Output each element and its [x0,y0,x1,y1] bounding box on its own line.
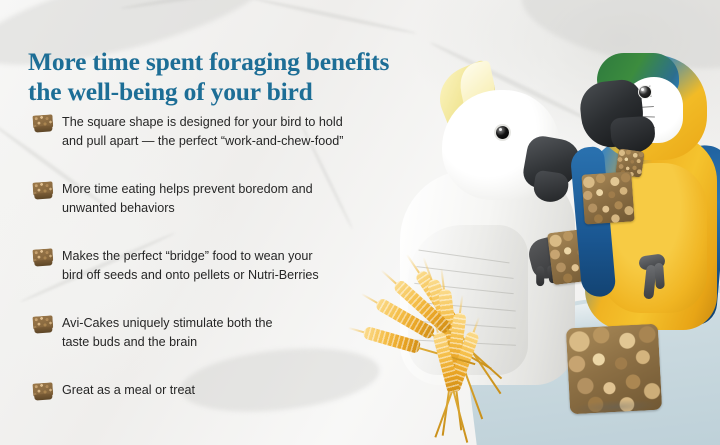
avi-cake-square-icon [32,382,53,400]
avi-cake-product-closeup [566,324,662,415]
list-item: Great as a meal or treat [33,381,453,405]
list-item-text: Avi-Cakes uniquely stimulate both the ta… [62,314,272,351]
icon-side-face [34,125,52,132]
headline-line-2: the well-being of your bird [28,77,458,107]
marble-vein [120,0,348,11]
marble-vein [514,0,720,86]
cockatoo-beak [532,170,570,204]
cockatoo-beak [521,134,583,195]
list-item-line: bird off seeds and onto pellets or Nutri… [62,266,319,285]
list-item-line: Avi-Cakes uniquely stimulate both the [62,314,272,333]
wheat-awn [458,295,463,317]
cockatoo-head [442,90,560,200]
icon-side-face [34,259,52,266]
macaw-wing [570,146,617,298]
list-item-line: taste buds and the brain [62,333,272,352]
list-item: Avi-Cakes uniquely stimulate both the ta… [33,314,453,366]
macaw-body [585,135,717,330]
avi-cake-square-icon [32,315,53,333]
avi-cake-square-icon [32,248,53,266]
macaw-beak [578,78,647,150]
avi-cake-square-icon [32,181,53,199]
macaw-chest [601,163,707,313]
macaw-head [595,55,707,160]
cockatoo-toe [547,265,558,284]
list-item-text: Makes the perfect “bridge” food to wean … [62,247,319,284]
macaw-face-line [625,115,655,117]
list-item: The square shape is designed for your bi… [33,113,453,165]
wheat-awn [471,317,480,336]
page-title: More time spent foraging benefits the we… [28,47,458,107]
wheat-stem [452,365,462,431]
macaw-face-patch [621,77,683,143]
list-item-line: Great as a meal or treat [62,381,195,400]
list-item-line: Makes the perfect “bridge” food to wean … [62,247,319,266]
avi-cakes-promo-banner: More time spent foraging benefits the we… [0,0,720,445]
marble-vein [250,0,417,35]
macaw-face-line [624,106,654,109]
wheat-stem [446,328,503,379]
list-item: Makes the perfect “bridge” food to wean … [33,247,453,299]
cockatoo-foot [526,234,569,281]
icon-side-face [34,393,52,400]
table-surface [461,278,720,445]
list-item-text: Great as a meal or treat [62,381,195,400]
list-item-line: and pull apart — the perfect “work-and-c… [62,132,343,151]
wheat-stem [452,390,468,443]
macaw-toe [654,263,665,290]
product-shadow [572,398,661,417]
icon-side-face [34,192,52,199]
list-item-line: More time eating helps prevent boredom a… [62,180,313,199]
macaw-illustration [575,55,720,340]
list-item: More time eating helps prevent boredom a… [33,180,453,232]
icon-side-face [34,326,52,333]
avi-cake-piece [615,148,644,177]
headline-line-1: More time spent foraging benefits [28,47,389,76]
macaw-wing [663,143,720,327]
macaw-face-line [627,123,655,128]
macaw-face-line [631,130,655,137]
list-item-line: The square shape is designed for your bi… [62,113,343,132]
list-item-text: More time eating helps prevent boredom a… [62,180,313,217]
cockatoo-eye [496,126,509,139]
macaw-eye [638,85,652,99]
table-highlight [487,285,720,341]
list-item-line: unwanted behaviors [62,199,313,218]
macaw-toe [643,265,656,300]
wheat-stem [458,332,501,395]
avi-cake-square-icon [32,114,53,132]
macaw-beak [610,116,656,155]
avi-cake-held-by-macaw [581,171,634,224]
macaw-face-line [625,85,650,93]
wheat-stem [457,353,483,420]
benefits-list: The square shape is designed for your bi… [33,113,453,405]
cockatoo-toe [536,266,544,286]
macaw-face-line [624,96,652,102]
macaw-forehead [597,53,679,95]
macaw-toe [638,253,666,270]
macaw-foot [639,255,669,317]
list-item-text: The square shape is designed for your bi… [62,113,343,150]
avi-cake-held-by-cockatoo [547,227,607,285]
cockatoo-crest [456,60,498,110]
